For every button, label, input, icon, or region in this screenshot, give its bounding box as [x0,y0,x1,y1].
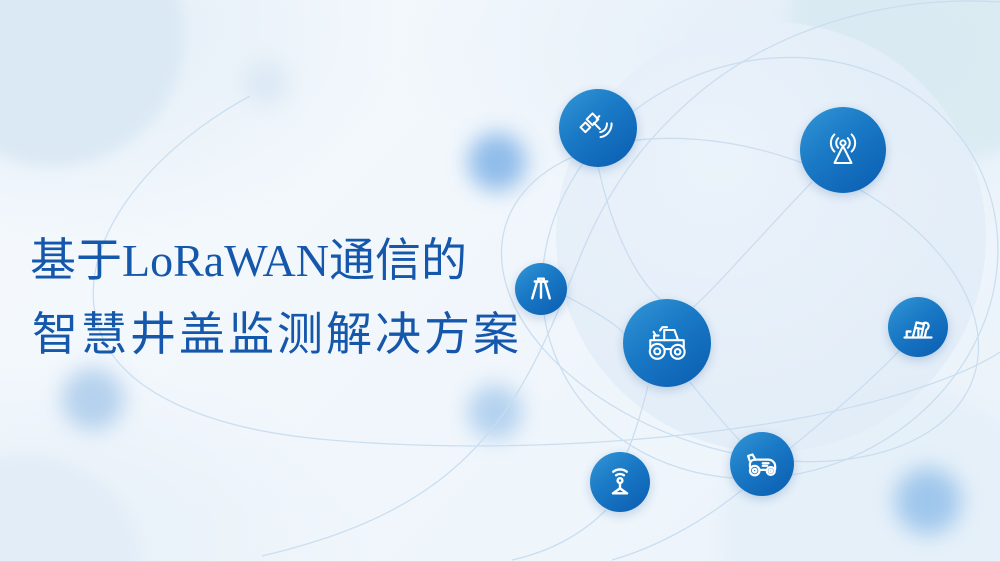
satellite-icon [576,106,620,150]
tractor-icon [641,317,693,369]
accent-dot-near-satellite [468,133,526,191]
node-harvester[interactable] [730,432,794,496]
accent-dot-upper-left [243,60,289,106]
accent-dot-bottom-right [895,468,961,534]
accent-dot-left [62,368,124,430]
node-survey-tripod[interactable] [515,263,567,315]
title-line-2: 智慧井盖监测解决方案 [32,306,522,364]
radio-tower-icon [819,126,867,174]
harvester-icon [743,445,781,483]
title-slide: 基于LoRaWAN通信的 智慧井盖监测解决方案 [0,0,1000,562]
title-line-1: 基于LoRaWAN通信的 [30,232,522,290]
background-blob-top-left [0,0,184,167]
oil-pumpjack-icon [900,309,936,345]
slide-title: 基于LoRaWAN通信的 智慧井盖监测解决方案 [30,232,522,364]
accent-dot-center-left [468,385,522,439]
node-wireless-sensor[interactable] [590,452,650,512]
globe-circle [556,22,986,452]
node-radio-tower[interactable] [800,107,886,193]
node-satellite[interactable] [559,89,637,167]
background-blob-bottom-left [0,455,140,562]
wireless-sensor-icon [603,465,637,499]
node-tractor[interactable] [623,299,711,387]
node-oil-pumpjack[interactable] [888,297,948,357]
survey-tripod-icon [526,274,556,304]
